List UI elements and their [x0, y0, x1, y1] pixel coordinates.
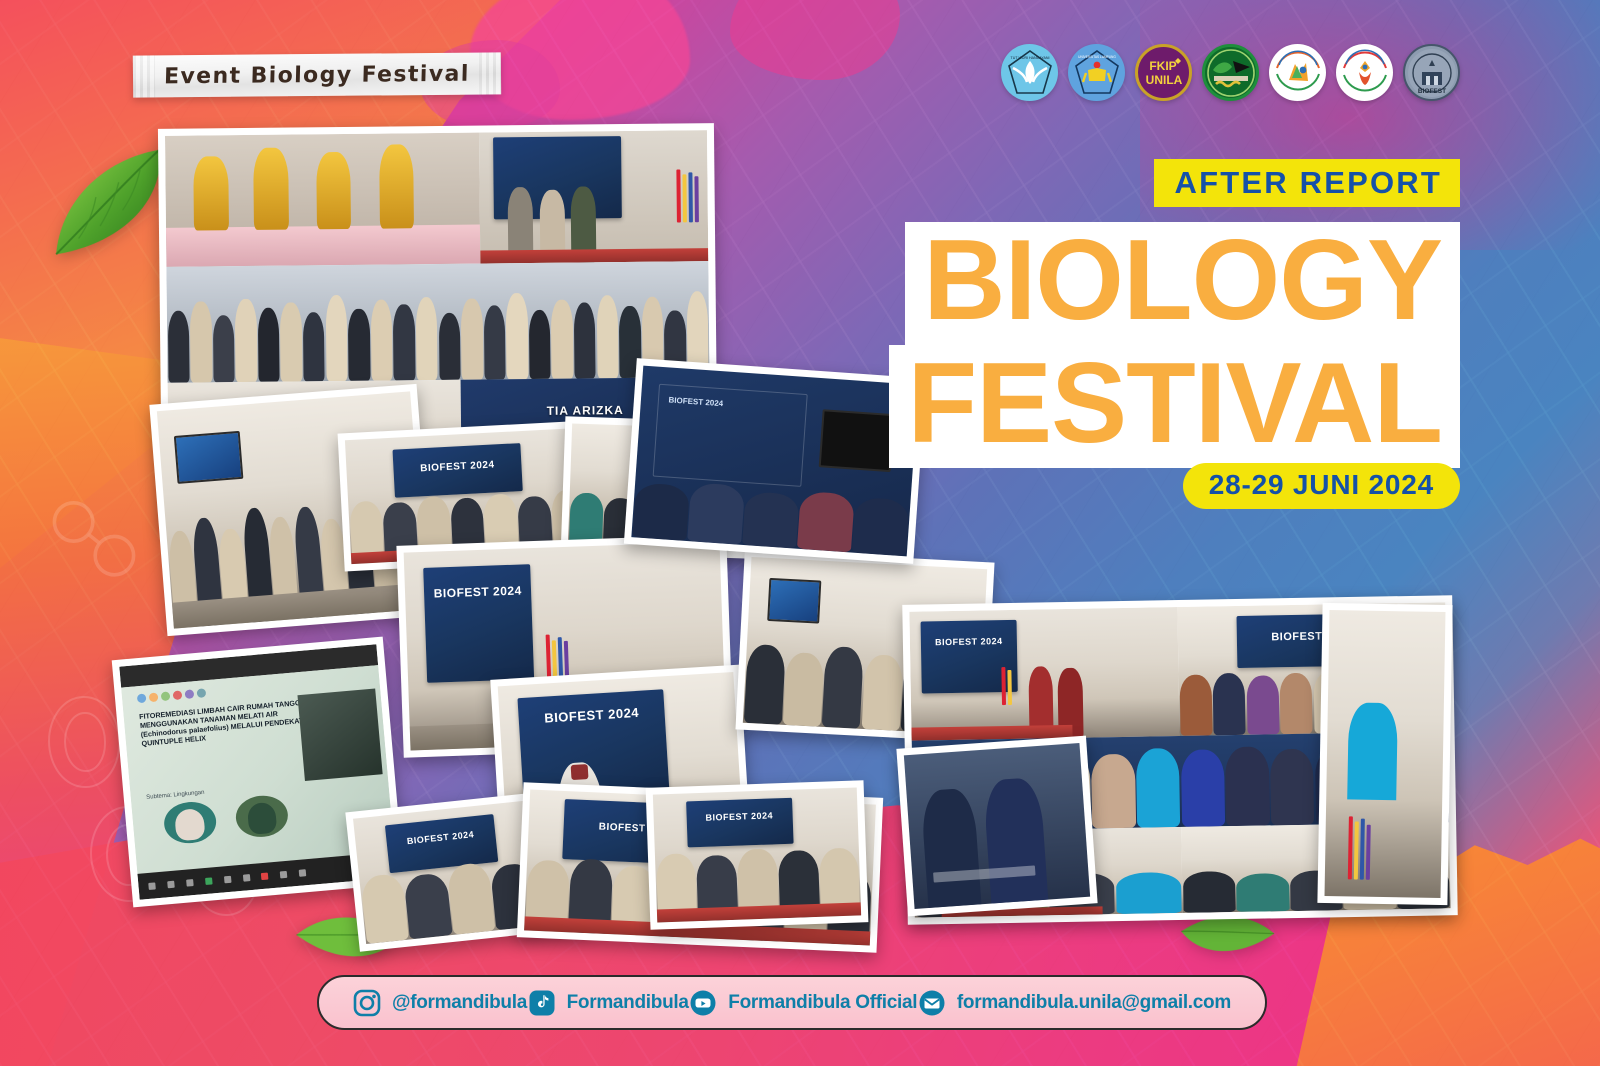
svg-text:UNILA: UNILA	[1145, 73, 1182, 87]
photo-frame-upper-right: BIOFEST 2024	[624, 358, 926, 564]
logo-fkip-unila: FKIP UNILA	[1135, 44, 1192, 101]
logo-formandibula	[1336, 44, 1393, 101]
social-label-email: formandibula.unila@gmail.com	[957, 992, 1231, 1014]
youtube-icon[interactable]	[689, 989, 717, 1017]
event-date-badge: 28-29 JUNI 2024	[1183, 463, 1460, 509]
event-date-text: 28-29 JUNI 2024	[1209, 469, 1434, 500]
photo-frame-committee-blue	[896, 736, 1097, 917]
email-icon[interactable]	[918, 989, 946, 1017]
partner-logo-row: TUT WURI HANDAYANI UNIVERSITAS LAMPUNG F…	[1001, 44, 1460, 101]
social-label-instagram: @formandibula	[392, 992, 527, 1014]
event-tape-label: Event Biology Festival	[133, 52, 501, 97]
title-text-festival: FESTIVAL	[907, 349, 1442, 458]
zoom-slide-title: FITOREMEDIASI LIMBAH CAIR RUMAH TANGGA M…	[139, 697, 317, 748]
logo-biofest-seal: BIOFEST	[1403, 44, 1460, 101]
after-report-text: AFTER REPORT	[1174, 165, 1442, 200]
social-item-instagram[interactable]: @formandibula	[353, 989, 527, 1017]
svg-text:UNIVERSITAS LAMPUNG: UNIVERSITAS LAMPUNG	[1078, 55, 1116, 59]
svg-text:FKIP: FKIP	[1149, 59, 1176, 73]
instagram-icon[interactable]	[353, 989, 381, 1017]
logo-tut-wuri-handayani: TUT WURI HANDAYANI	[1001, 44, 1058, 101]
social-contact-bar: @formandibula Formandibula Formandibula …	[317, 975, 1267, 1030]
social-label-tiktok: Formandibula	[567, 992, 689, 1014]
social-item-tiktok[interactable]: Formandibula	[528, 989, 689, 1017]
tiktok-icon[interactable]	[528, 989, 556, 1017]
logo-universitas-lampung: UNIVERSITAS LAMPUNG	[1068, 44, 1125, 101]
social-label-youtube: Formandibula Official	[728, 992, 917, 1014]
photo-frame-certificate-line: BIOFEST 2024	[646, 780, 869, 930]
logo-pendidikan-biologi	[1202, 44, 1259, 101]
molecule-watermark	[40, 486, 160, 606]
social-item-youtube[interactable]: Formandibula Official	[689, 989, 917, 1017]
logo-himpunan-biologi	[1269, 44, 1326, 101]
svg-text:BIOFEST: BIOFEST	[1417, 88, 1445, 95]
title-band-festival: FESTIVAL	[889, 345, 1460, 468]
event-tape-text: Event Biology Festival	[164, 61, 470, 89]
zoom-slide-subtitle: Subtema: Lingkungan	[146, 789, 205, 800]
poster-root: Event Biology Festival TUT WURI HANDAYAN…	[0, 0, 1600, 1066]
social-item-email[interactable]: formandibula.unila@gmail.com	[918, 989, 1231, 1017]
photo-frame-right-tall	[1317, 603, 1452, 905]
title-text-biology: BIOLOGY	[923, 226, 1442, 335]
title-band-biology: BIOLOGY	[905, 222, 1460, 345]
svg-text:TUT WURI HANDAYANI: TUT WURI HANDAYANI	[1010, 56, 1049, 60]
after-report-badge: AFTER REPORT	[1154, 159, 1460, 207]
